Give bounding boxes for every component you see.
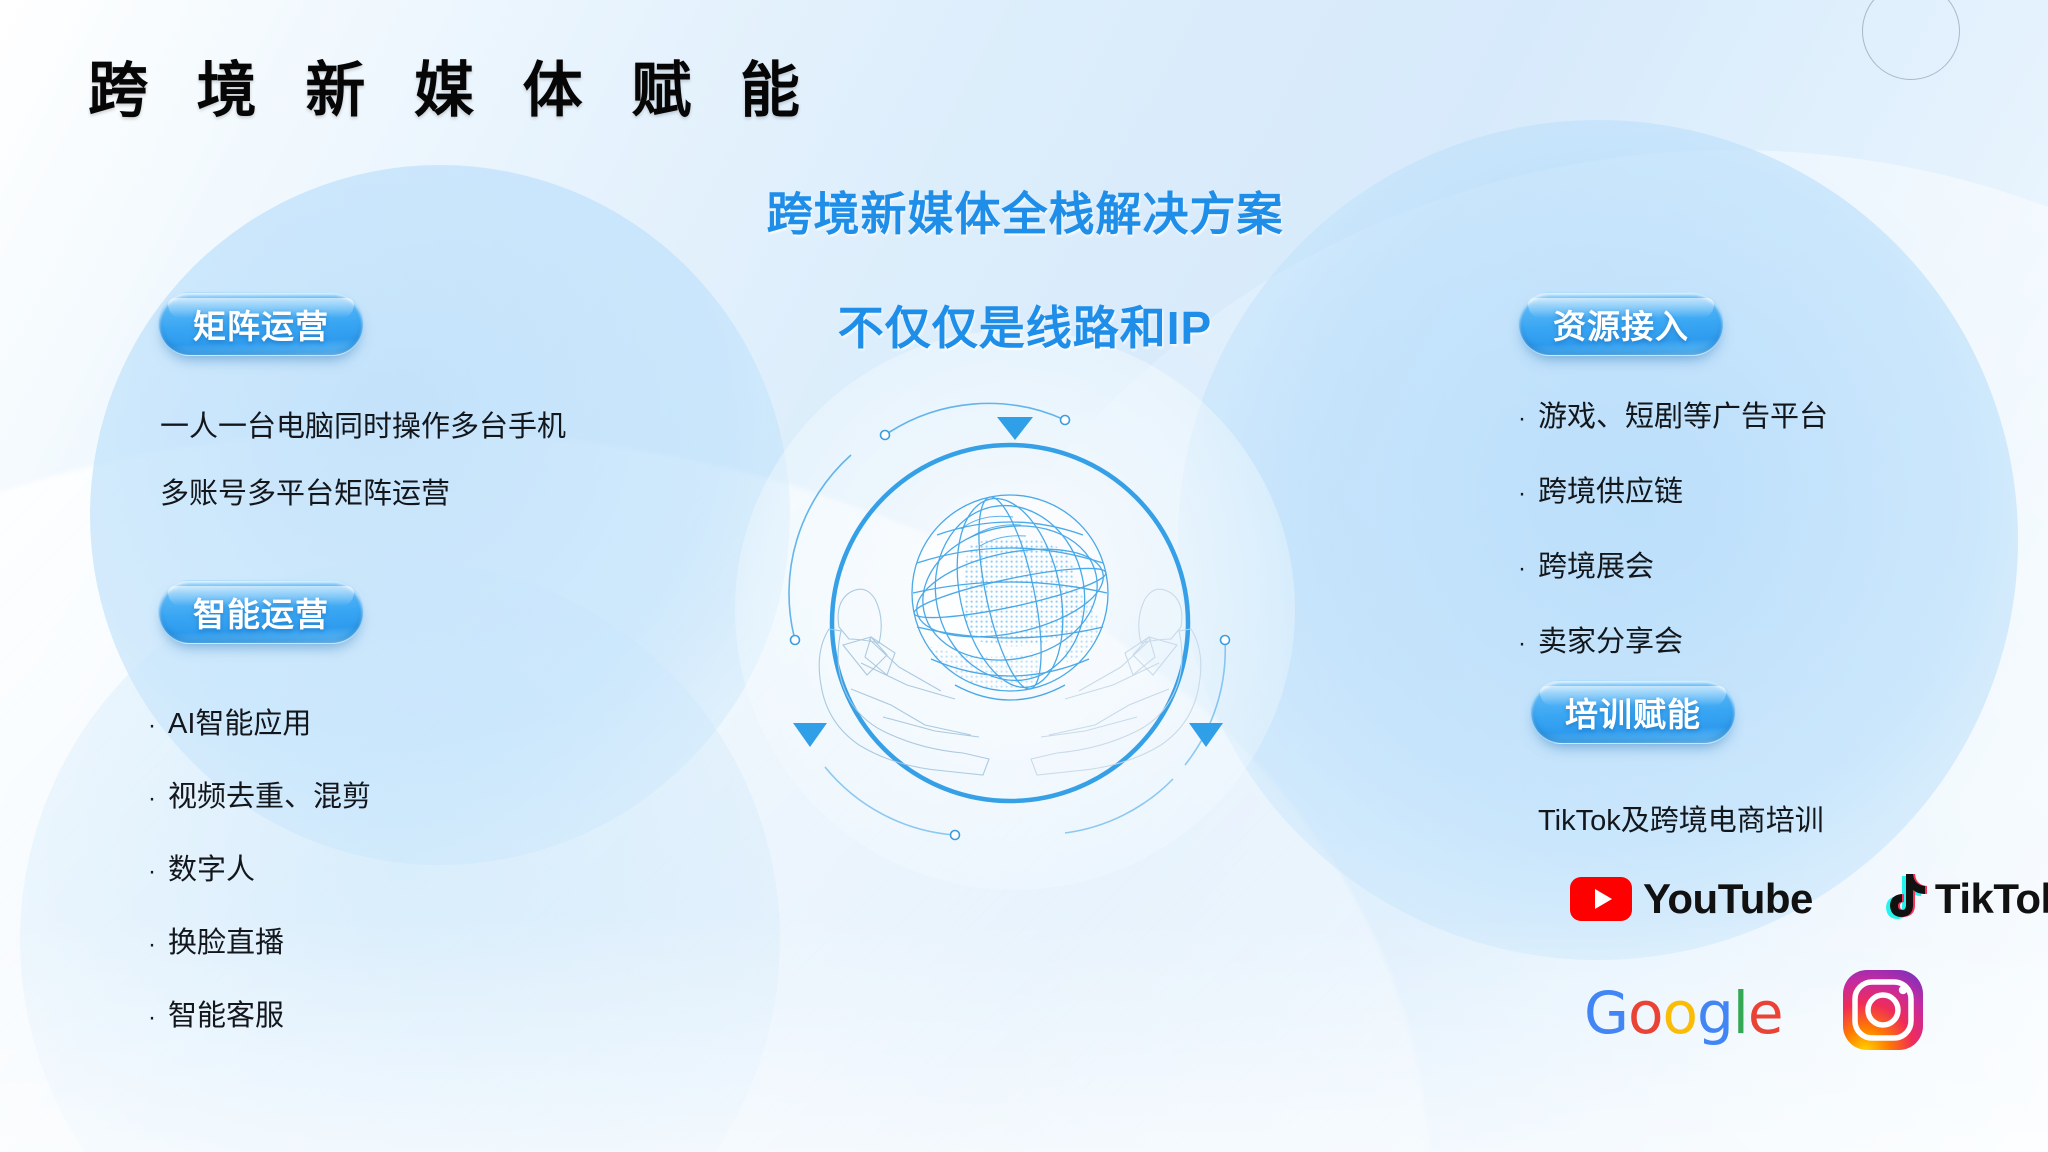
instagram-logo[interactable] [1841, 968, 1925, 1057]
badge-matrix-operations[interactable]: 矩阵运营 [158, 292, 364, 356]
badge-training-empowerment[interactable]: 培训赋能 [1530, 680, 1736, 744]
google-letter-o1: o [1628, 979, 1663, 1047]
google-letter-o2: o [1662, 979, 1697, 1047]
bullet-dot-icon: · [1518, 632, 1538, 656]
left-paragraph-1: 一人一台电脑同时操作多台手机 [160, 403, 566, 445]
bullet-dot-icon: · [1518, 407, 1538, 431]
list-item-label: 视频去重、混剪 [168, 773, 371, 815]
logo-row-top: YouTube TikTok [1570, 872, 2048, 925]
youtube-logo[interactable]: YouTube [1570, 875, 1813, 923]
headline-line-1: 跨境新媒体全栈解决方案 [560, 178, 1490, 244]
list-item-label: 跨境供应链 [1538, 468, 1683, 510]
bullet-dot-icon: · [1518, 482, 1538, 506]
list-item: · 数字人 [148, 846, 371, 888]
center-headline: 跨境新媒体全栈解决方案 不仅仅是线路和IP [560, 178, 1490, 358]
left-bullet-list: · AI智能应用 · 视频去重、混剪 · 数字人 · 换脸直播 · 智能客服 [148, 700, 371, 1034]
decorative-ring-icon [1862, 0, 1960, 80]
background-circle-left-lower [20, 560, 780, 1152]
bullet-dot-icon: · [148, 860, 168, 884]
logo-row-bottom: Google [1584, 968, 1925, 1057]
list-item: · 智能客服 [148, 992, 371, 1034]
list-item-label: AI智能应用 [168, 700, 311, 742]
left-paragraph-2: 多账号多平台矩阵运营 [160, 470, 450, 512]
right-paragraph-1: TikTok及跨境电商培训 [1538, 797, 1824, 839]
bullet-dot-icon: · [148, 933, 168, 957]
bullet-dot-icon: · [148, 787, 168, 811]
list-item-label: 游戏、短剧等广告平台 [1538, 393, 1828, 435]
tiktok-label: TikTok [1935, 875, 2048, 923]
list-item: · 游戏、短剧等广告平台 [1518, 393, 1828, 435]
badge-label: 智能运营 [193, 588, 329, 636]
badge-resource-access[interactable]: 资源接入 [1518, 292, 1724, 356]
list-item-label: 卖家分享会 [1538, 618, 1683, 660]
list-item-label: 换脸直播 [168, 919, 284, 961]
list-item: · 跨境展会 [1518, 543, 1828, 585]
youtube-label: YouTube [1643, 875, 1813, 923]
list-item: · AI智能应用 [148, 700, 371, 742]
slide-canvas: 跨 境 新 媒 体 赋 能 跨境新媒体全栈解决方案 不仅仅是线路和IP 矩阵运营… [0, 0, 2048, 1152]
bullet-dot-icon: · [148, 1006, 168, 1030]
google-letter-l: l [1733, 979, 1748, 1047]
youtube-play-icon [1570, 877, 1632, 921]
right-bullet-list: · 游戏、短剧等广告平台 · 跨境供应链 · 跨境展会 · 卖家分享会 [1518, 393, 1828, 660]
list-item: · 换脸直播 [148, 919, 371, 961]
google-logo[interactable]: Google [1584, 979, 1783, 1047]
bullet-dot-icon: · [1518, 557, 1538, 581]
tiktok-logo[interactable]: TikTok [1883, 872, 2048, 925]
list-item-label: 跨境展会 [1538, 543, 1654, 585]
list-item: · 视频去重、混剪 [148, 773, 371, 815]
list-item: · 跨境供应链 [1518, 468, 1828, 510]
bullet-dot-icon: · [148, 714, 168, 738]
google-letter-g: G [1584, 979, 1628, 1047]
google-letter-g2: g [1697, 979, 1733, 1047]
list-item-label: 智能客服 [168, 992, 284, 1034]
badge-label: 资源接入 [1553, 300, 1689, 348]
badge-smart-operations[interactable]: 智能运营 [158, 580, 364, 644]
list-item: · 卖家分享会 [1518, 618, 1828, 660]
badge-label: 培训赋能 [1565, 688, 1701, 736]
tiktok-note-icon [1883, 872, 1927, 925]
badge-label: 矩阵运营 [193, 300, 329, 348]
page-title: 跨 境 新 媒 体 赋 能 [88, 42, 816, 129]
list-item-label: 数字人 [168, 846, 255, 888]
globe-in-hands-illustration [765, 395, 1255, 845]
google-letter-e: e [1748, 979, 1783, 1047]
headline-line-2: 不仅仅是线路和IP [560, 292, 1490, 358]
